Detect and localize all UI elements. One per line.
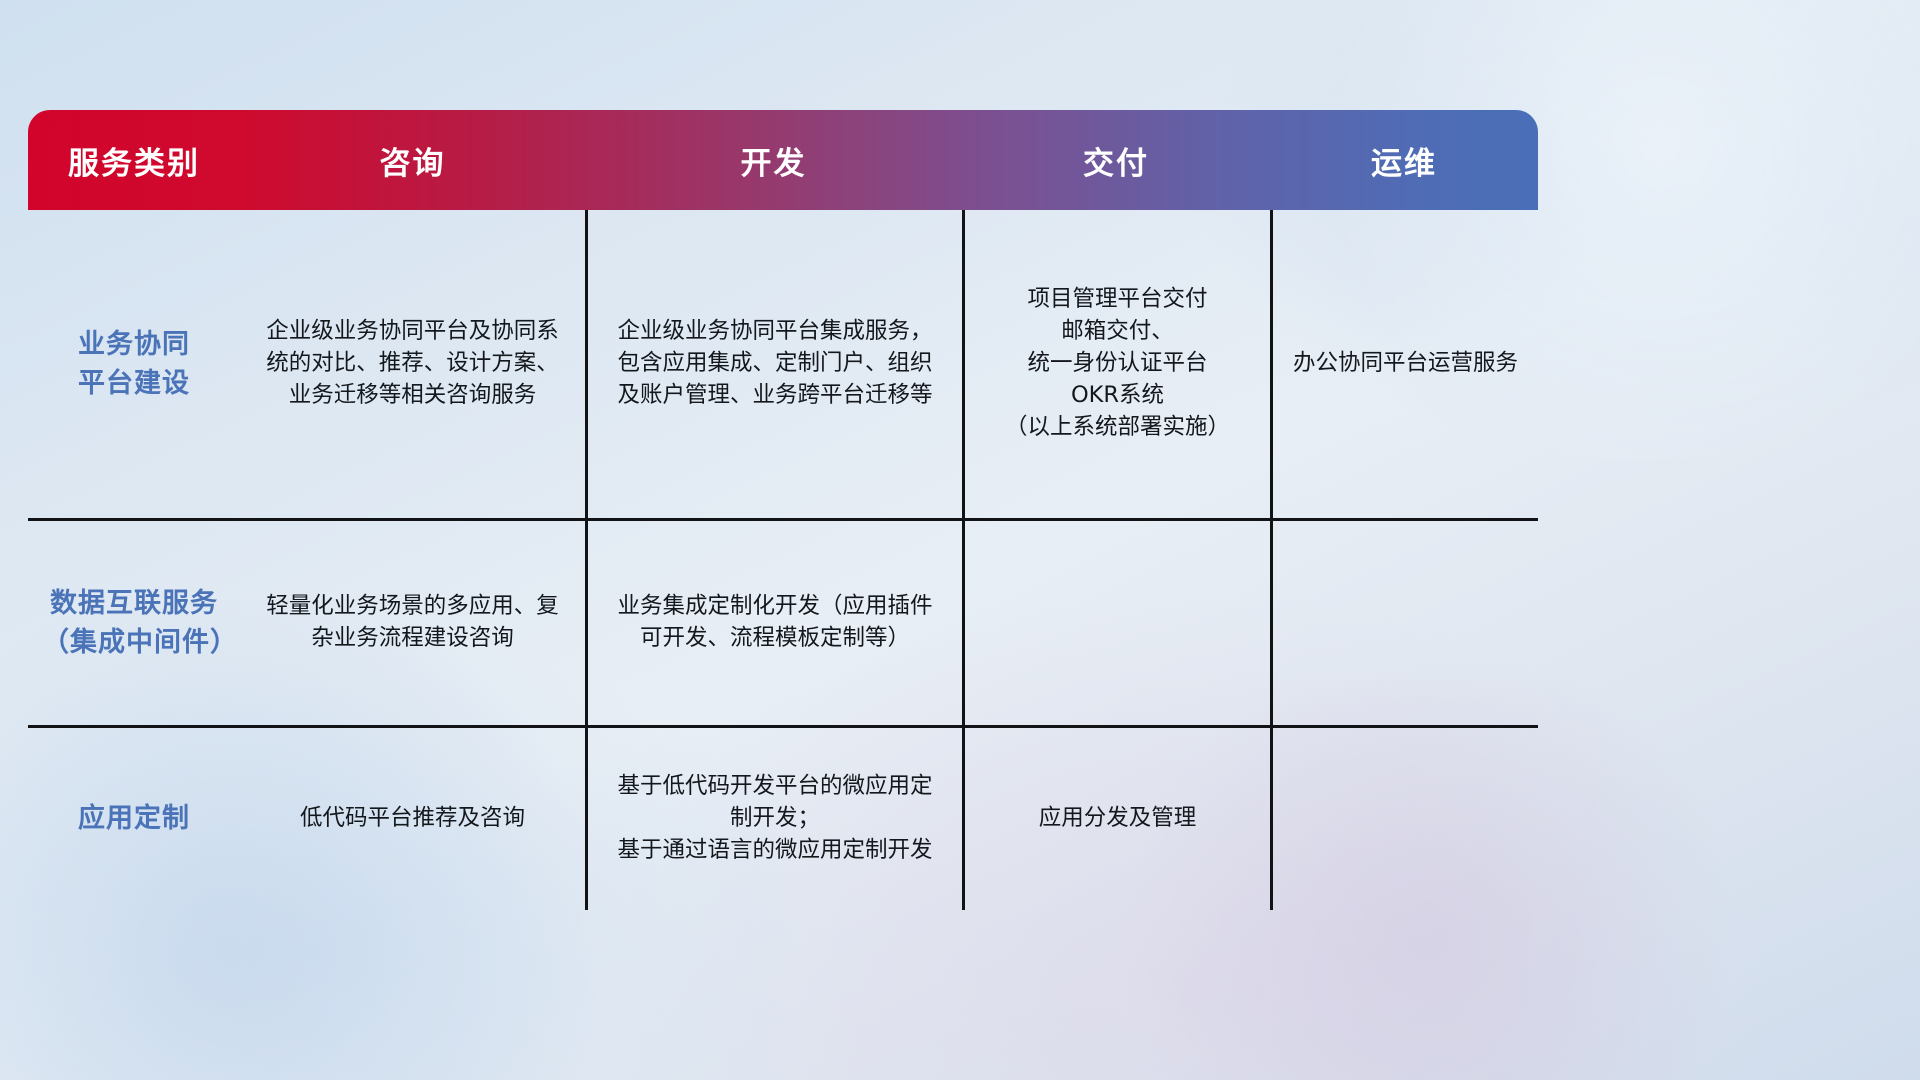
table-row: 应用定制 低代码平台推荐及咨询 基于低代码开发平台的微应用定 制开发； 基于通过… — [28, 728, 1538, 910]
cell-operations-row1: 办公协同平台运营服务 — [1270, 210, 1538, 518]
row-label-business-collaboration: 业务协同 平台建设 — [28, 210, 240, 518]
cell-development-row3: 基于低代码开发平台的微应用定 制开发； 基于通过语言的微应用定制开发 — [585, 728, 962, 910]
slide-canvas: 服务类别 咨询 开发 交付 运维 业务协同 平台建设 企业级业务协同平台及协同系… — [0, 0, 1920, 1080]
column-header-operations: 运维 — [1270, 110, 1538, 210]
cell-consulting-row3: 低代码平台推荐及咨询 — [240, 728, 585, 910]
cell-operations-row2 — [1270, 521, 1538, 725]
cell-delivery-row2 — [962, 521, 1270, 725]
cell-operations-row3 — [1270, 728, 1538, 910]
cell-delivery-row1: 项目管理平台交付 邮箱交付、 统一身份认证平台 OKR系统 （以上系统部署实施） — [962, 210, 1270, 518]
cell-development-row1: 企业级业务协同平台集成服务， 包含应用集成、定制门户、组织 及账户管理、业务跨平… — [585, 210, 962, 518]
row-label-data-interconnect: 数据互联服务 （集成中间件） — [28, 521, 240, 725]
cell-consulting-row1: 企业级业务协同平台及协同系 统的对比、推荐、设计方案、 业务迁移等相关咨询服务 — [240, 210, 585, 518]
column-header-category: 服务类别 — [28, 110, 240, 210]
cell-delivery-row3: 应用分发及管理 — [962, 728, 1270, 910]
table-row: 数据互联服务 （集成中间件） 轻量化业务场景的多应用、复 杂业务流程建设咨询 业… — [28, 521, 1538, 728]
column-header-delivery: 交付 — [962, 110, 1270, 210]
table-header-row: 服务类别 咨询 开发 交付 运维 — [28, 110, 1538, 210]
table-body: 业务协同 平台建设 企业级业务协同平台及协同系 统的对比、推荐、设计方案、 业务… — [28, 210, 1538, 910]
column-header-consulting: 咨询 — [240, 110, 585, 210]
row-label-app-customization: 应用定制 — [28, 728, 240, 910]
cell-development-row2: 业务集成定制化开发（应用插件 可开发、流程模板定制等） — [585, 521, 962, 725]
column-header-development: 开发 — [585, 110, 962, 210]
service-matrix-table: 服务类别 咨询 开发 交付 运维 业务协同 平台建设 企业级业务协同平台及协同系… — [28, 110, 1538, 910]
cell-consulting-row2: 轻量化业务场景的多应用、复 杂业务流程建设咨询 — [240, 521, 585, 725]
table-row: 业务协同 平台建设 企业级业务协同平台及协同系 统的对比、推荐、设计方案、 业务… — [28, 210, 1538, 521]
